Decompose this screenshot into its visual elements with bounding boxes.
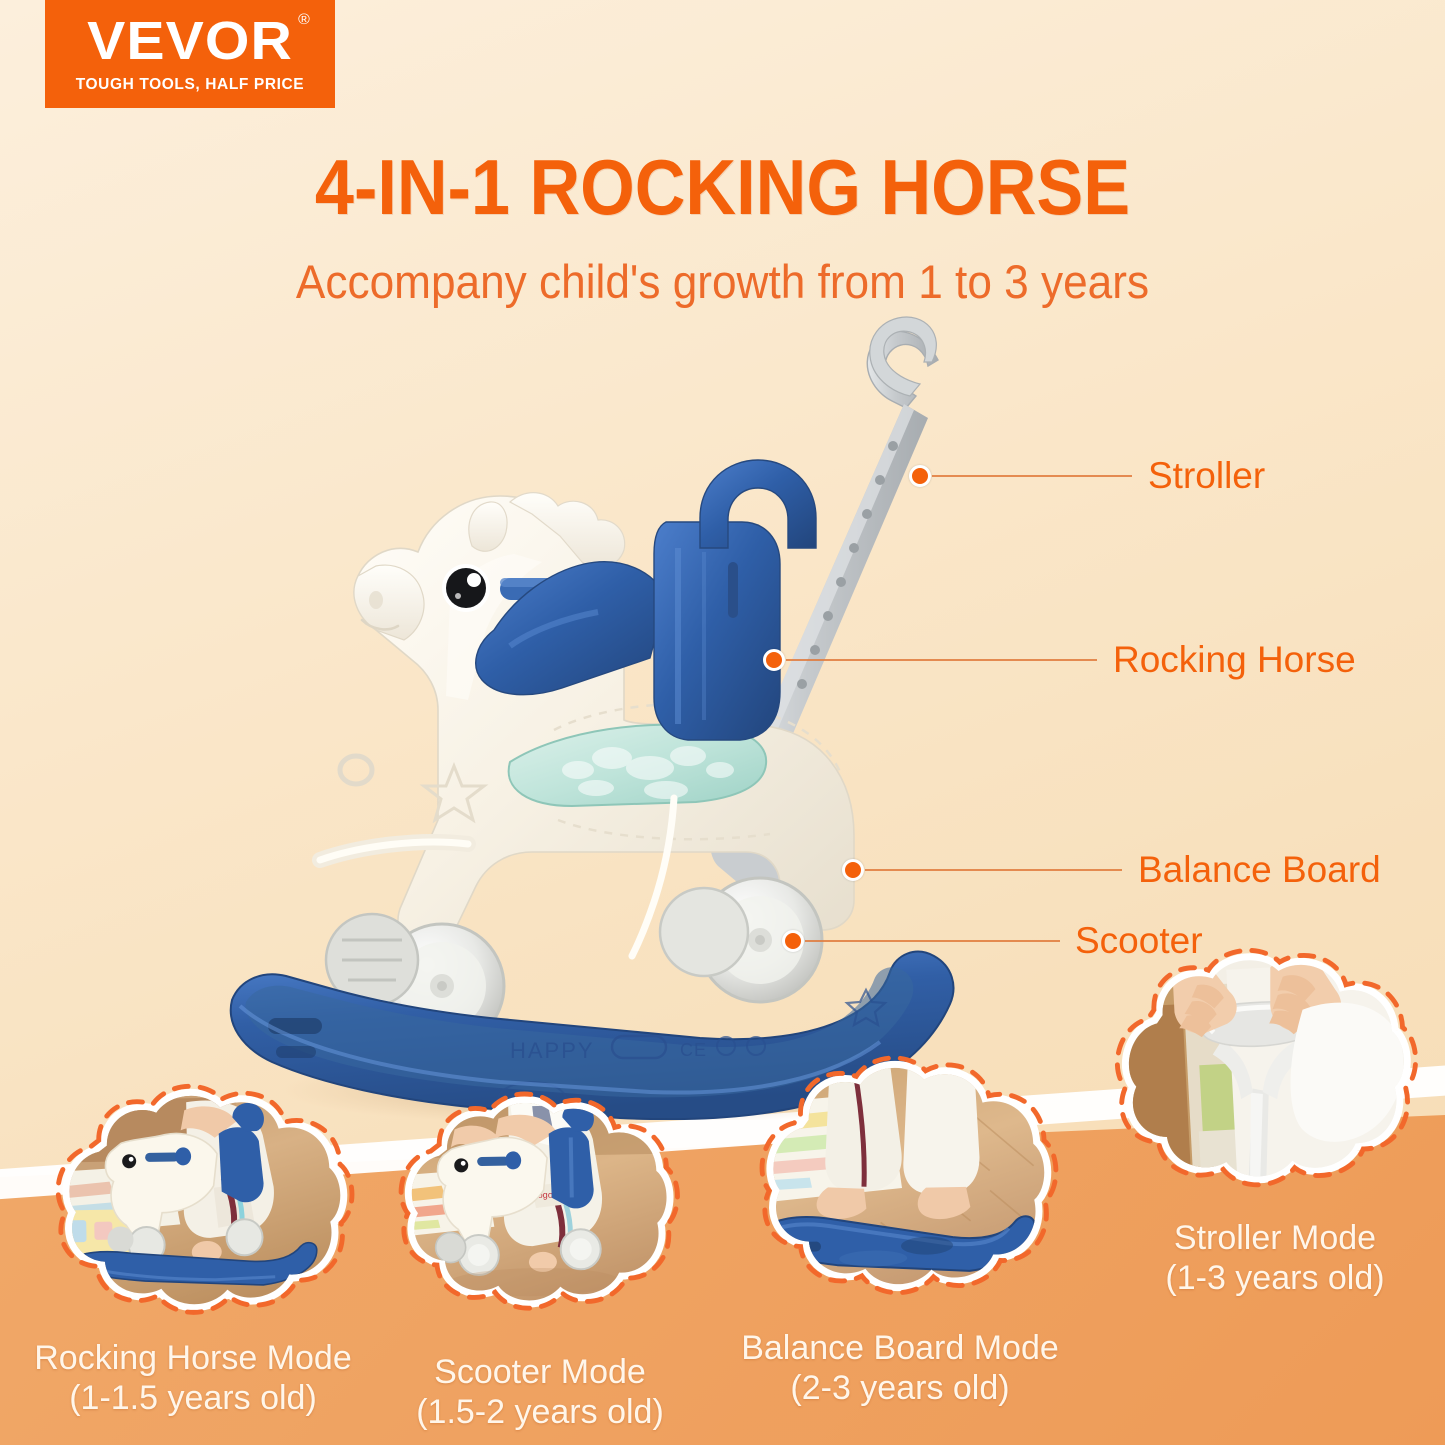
caption-balance-board: Balance Board Mode (2-3 years old) [710,1328,1090,1408]
photo-stroller-mode [1086,943,1439,1210]
product-hero-image: HAPPY CE [180,300,1060,1120]
mode-card-balance-board [738,1059,1072,1315]
mode-card-rocking-horse [36,1089,370,1327]
callout-dot-scooter [782,930,804,952]
callout-line-stroller [932,475,1132,477]
callout-line-scooter [805,940,1060,942]
caption-rocking-horse: Rocking Horse Mode (1-1.5 years old) [8,1338,378,1418]
callout-dot-balance-board [842,859,864,881]
callout-label-stroller: Stroller [1148,455,1265,497]
svg-text:CE: CE [680,1040,707,1060]
brand-tagline: TOUGH TOOLS, HALF PRICE [76,76,305,94]
caption-stroller: Stroller Mode (1-3 years old) [1110,1218,1440,1298]
photo-scooter-mode: logo [380,1095,696,1322]
brand-name: VEVOR ® [87,14,293,68]
caption-scooter: Scooter Mode (1.5-2 years old) [390,1352,690,1432]
mode-card-stroller [1086,943,1439,1210]
callout-label-rocking-horse: Rocking Horse [1113,639,1356,681]
callout-label-balance-board: Balance Board [1138,849,1381,891]
vevor-logo: VEVOR ® TOUGH TOOLS, HALF PRICE [45,0,335,108]
page-title: 4-IN-1 ROCKING HORSE [72,148,1373,226]
page-subtitle: Accompany child's growth from 1 to 3 yea… [43,258,1401,305]
infographic-canvas: VEVOR ® TOUGH TOOLS, HALF PRICE 4-IN-1 R… [0,0,1445,1445]
svg-text:HAPPY: HAPPY [510,1038,595,1063]
callout-dot-stroller [909,465,931,487]
callout-line-balance-board [865,869,1122,871]
registered-trademark-icon: ® [298,12,311,27]
mode-card-scooter: logo [380,1095,696,1322]
callout-dot-rocking-horse [763,649,785,671]
brand-name-text: VEVOR [87,11,293,71]
callout-line-rocking-horse [786,659,1097,661]
